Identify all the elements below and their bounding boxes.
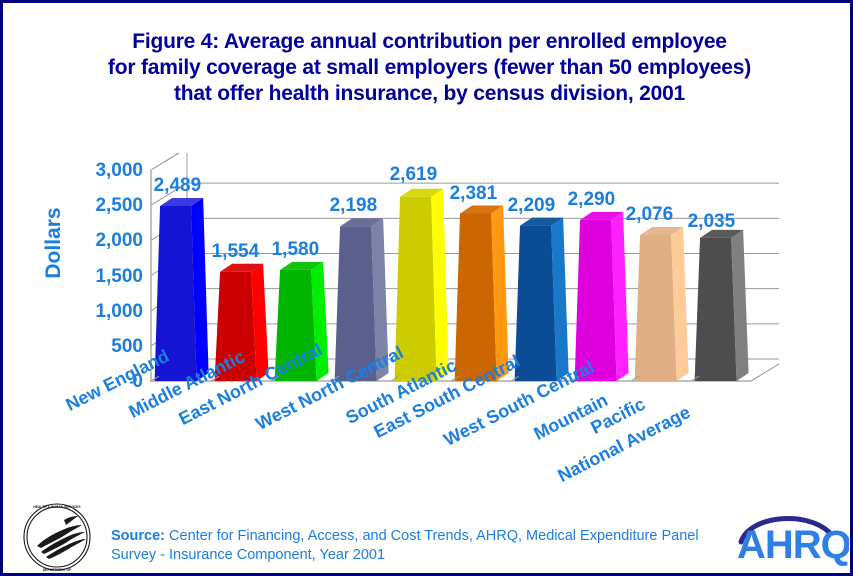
chart-bar[interactable] [515, 218, 569, 381]
chart-bar[interactable] [635, 227, 689, 381]
bar-value-label: 2,489 [154, 176, 202, 195]
y-axis-tick-labels: 3,0002,5002,0001,5001,0005000 [3, 3, 143, 576]
chart-bar[interactable] [455, 206, 509, 381]
bar-value-label: 1,554 [212, 242, 260, 261]
bar-value-label: 2,381 [450, 184, 498, 203]
ahrq-wordmark: AHRQ [737, 523, 849, 567]
y-axis-tick-label: 2,000 [51, 231, 143, 250]
bar-value-label: 2,209 [508, 196, 556, 215]
y-axis-tick-label: 3,000 [51, 161, 143, 180]
bar-value-label: 2,290 [568, 190, 616, 209]
y-axis-tick-label: 1,500 [51, 267, 143, 286]
chart-bar[interactable] [575, 212, 629, 381]
svg-text:DEPARTMENT OF: DEPARTMENT OF [43, 568, 71, 572]
y-axis-tick-label: 500 [51, 337, 143, 356]
chart-bar[interactable] [695, 230, 749, 381]
bar-value-label: 1,580 [272, 240, 320, 259]
source-text: Center for Financing, Access, and Cost T… [111, 528, 699, 563]
bar-value-label: 2,198 [330, 196, 378, 215]
bar-value-label: 2,076 [626, 205, 674, 224]
source-label: Source: [111, 528, 165, 544]
bar-value-label: 2,035 [688, 212, 736, 231]
hhs-logo: HEALTH & HUMAN SERVICES DEPARTMENT OF [15, 500, 99, 574]
source-note: Source: Center for Financing, Access, an… [111, 527, 731, 565]
ahrq-logo: AHRQ [733, 506, 849, 570]
figure-page: Figure 4: Average annual contribution pe… [0, 0, 853, 576]
bar-value-label: 2,619 [390, 165, 438, 184]
y-axis-tick-label: 2,500 [51, 196, 143, 215]
y-axis-tick-label: 1,000 [51, 302, 143, 321]
svg-text:HEALTH & HUMAN SERVICES: HEALTH & HUMAN SERVICES [33, 505, 81, 509]
